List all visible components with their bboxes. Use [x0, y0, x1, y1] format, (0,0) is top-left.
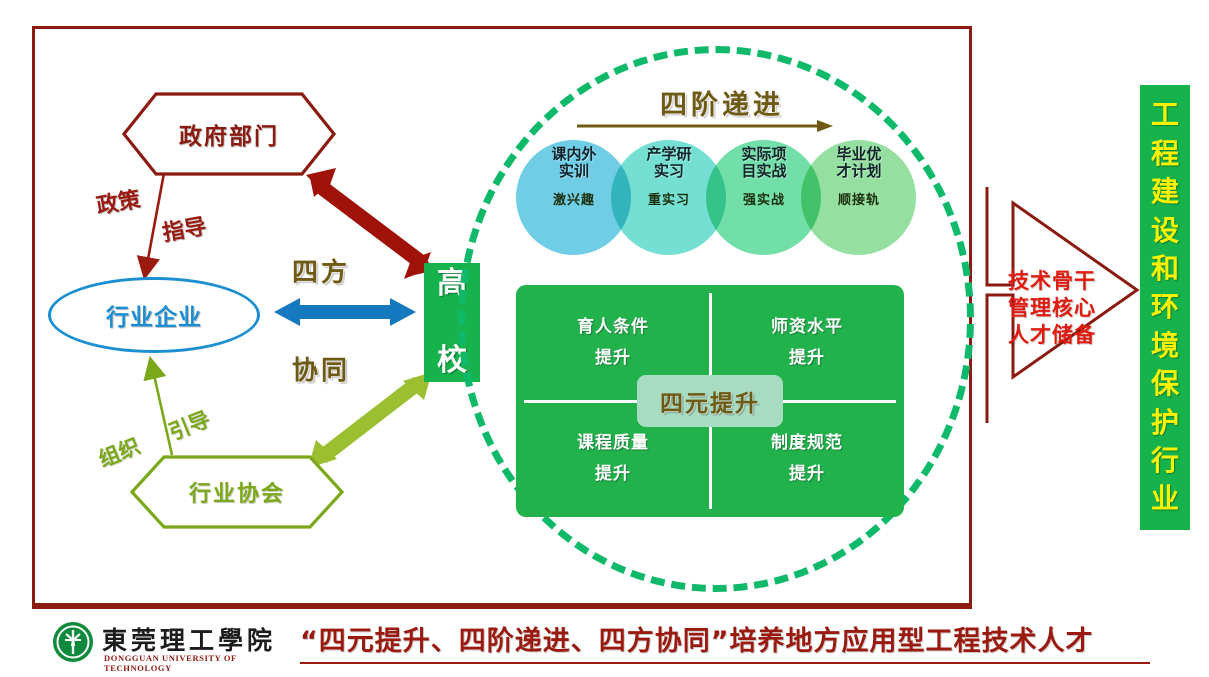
stage-label-1-line1: 课内外 — [528, 146, 620, 163]
footer-slogan: “四元提升、四阶递进、四方协同”培养地方应用型工程技术人才 — [300, 619, 1150, 664]
node-enterprise-label: 行业企业 — [106, 298, 202, 332]
stage-label-1: 课内外 实训 激兴趣 — [528, 146, 620, 208]
stage-progression-arrow — [575, 118, 835, 134]
university-logo-icon — [52, 621, 94, 663]
stage-label-2: 产学研 实习 重实习 — [623, 146, 715, 208]
banner-char-2: 程 — [1151, 140, 1179, 168]
stage-sublabel-1: 激兴趣 — [528, 189, 620, 208]
university-logo: 東莞理工學院 DONGGUAN UNIVERSITY OF TECHNOLOGY — [52, 617, 282, 667]
banner-char-3: 建 — [1151, 178, 1179, 206]
node-association-label: 行业协会 — [130, 455, 344, 529]
quad-cell-br-line2: 提升 — [789, 466, 825, 483]
four-element-badge: 四元提升 — [637, 375, 783, 427]
stage-label-2-line2: 实习 — [623, 163, 715, 180]
banner-char-10: 行 — [1151, 447, 1179, 475]
stage-sublabel-4: 顺接轨 — [813, 189, 905, 208]
banner-char-7: 境 — [1151, 332, 1179, 360]
edge-label-four-party: 四方 — [292, 252, 350, 289]
banner-char-11: 业 — [1151, 485, 1179, 513]
talent-line-2: 管理核心 — [1008, 295, 1148, 322]
stage-label-4-line2: 才计划 — [813, 163, 905, 180]
node-government[interactable]: 政府部门 — [122, 92, 336, 176]
stage-progression-title: 四阶递进 — [592, 83, 852, 122]
banner-char-9: 护 — [1151, 409, 1179, 437]
stage-sublabel-2: 重实习 — [623, 189, 715, 208]
stage-label-3-line1: 实际项 — [718, 146, 810, 163]
quad-cell-tr-line1: 师资水平 — [771, 319, 843, 336]
banner-char-4: 设 — [1151, 217, 1179, 245]
quad-cell-br-line1: 制度规范 — [771, 435, 843, 452]
stage-label-3-line2: 目实战 — [718, 163, 810, 180]
banner-char-1: 工 — [1151, 101, 1179, 129]
node-enterprise[interactable]: 行业企业 — [48, 277, 260, 353]
diagram-canvas: 政府部门 行业企业 行业协会 高 校 政策 指导 组织 引导 四方 协同 四阶递… — [0, 0, 1209, 677]
node-government-label: 政府部门 — [122, 92, 336, 176]
stage-label-4-line1: 毕业优 — [813, 146, 905, 163]
banner-char-5: 和 — [1151, 255, 1179, 283]
quad-cell-bl-line1: 课程质量 — [577, 435, 649, 452]
stage-label-4: 毕业优 才计划 顺接轨 — [813, 146, 905, 208]
quad-cell-tl-line1: 育人条件 — [577, 319, 649, 336]
stage-label-1-line2: 实训 — [528, 163, 620, 180]
quad-cell-tr-line2: 提升 — [789, 350, 825, 367]
talent-line-1: 技术骨干 — [1008, 268, 1148, 295]
talent-line-3: 人才储备 — [1008, 322, 1148, 349]
stage-sublabel-3: 强实战 — [718, 189, 810, 208]
university-logo-name-en: DONGGUAN UNIVERSITY OF TECHNOLOGY — [104, 653, 282, 673]
four-element-badge-label: 四元提升 — [660, 384, 760, 418]
edge-label-collaborate: 协同 — [292, 350, 350, 387]
node-association[interactable]: 行业协会 — [130, 455, 344, 529]
banner-char-8: 保 — [1151, 370, 1179, 398]
talent-output-text: 技术骨干 管理核心 人才储备 — [1008, 268, 1148, 349]
banner-char-6: 环 — [1151, 293, 1179, 321]
footer-divider — [32, 606, 972, 609]
university-logo-name-cn: 東莞理工學院 — [102, 621, 276, 657]
stage-label-3: 实际项 目实战 强实战 — [718, 146, 810, 208]
industry-banner[interactable]: 工 程 建 设 和 环 境 保 护 行 业 — [1140, 85, 1190, 530]
quad-cell-tl-line2: 提升 — [595, 350, 631, 367]
four-element-panel: 育人条件 提升 师资水平 提升 课程质量 提升 制度规范 提升 四元提升 — [516, 285, 904, 517]
stage-circles-group: 课内外 实训 激兴趣 产学研 实习 重实习 实际项 目实战 强实战 毕业优 才计… — [516, 140, 916, 255]
quad-cell-bl-line2: 提升 — [595, 466, 631, 483]
stage-label-2-line1: 产学研 — [623, 146, 715, 163]
